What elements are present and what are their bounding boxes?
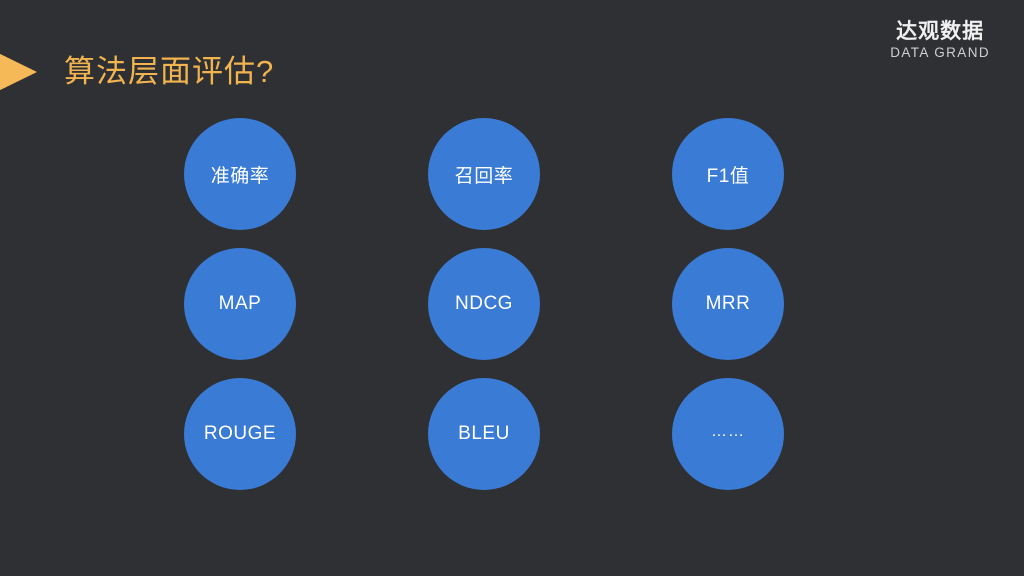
metric-circle-label: NDCG [455, 293, 513, 315]
page-title: 算法层面评估? [64, 50, 274, 94]
brand-logo: 达观数据 DATA GRAND [890, 20, 990, 61]
metric-circle: ROUGE [184, 378, 296, 490]
title-arrow-marker-icon [0, 49, 37, 95]
slide-canvas: 算法层面评估? 达观数据 DATA GRAND 准确率 召回率 F1值 MAP … [0, 0, 1024, 576]
logo-name-cn: 达观数据 [890, 20, 990, 44]
metric-circle: F1值 [672, 118, 784, 230]
metric-circle: 召回率 [428, 118, 540, 230]
metric-circle: …… [672, 378, 784, 490]
metric-circle-label: MRR [706, 293, 751, 315]
logo-name-en: DATA GRAND [890, 45, 990, 61]
metric-circle-label: …… [711, 423, 745, 441]
metric-circle-label: 准确率 [211, 161, 270, 188]
metric-circle: BLEU [428, 378, 540, 490]
metric-circle-label: BLEU [458, 423, 510, 445]
metric-circle-label: ROUGE [204, 423, 276, 445]
metric-circle: NDCG [428, 248, 540, 360]
metric-circle: 准确率 [184, 118, 296, 230]
metric-circle: MAP [184, 248, 296, 360]
metric-circle-label: MAP [219, 293, 262, 315]
metric-circle-label: F1值 [707, 161, 750, 188]
metric-circle-label: 召回率 [455, 161, 514, 188]
metric-circle: MRR [672, 248, 784, 360]
metric-circle-grid: 准确率 召回率 F1值 MAP NDCG MRR ROUGE BLEU …… [184, 118, 796, 498]
